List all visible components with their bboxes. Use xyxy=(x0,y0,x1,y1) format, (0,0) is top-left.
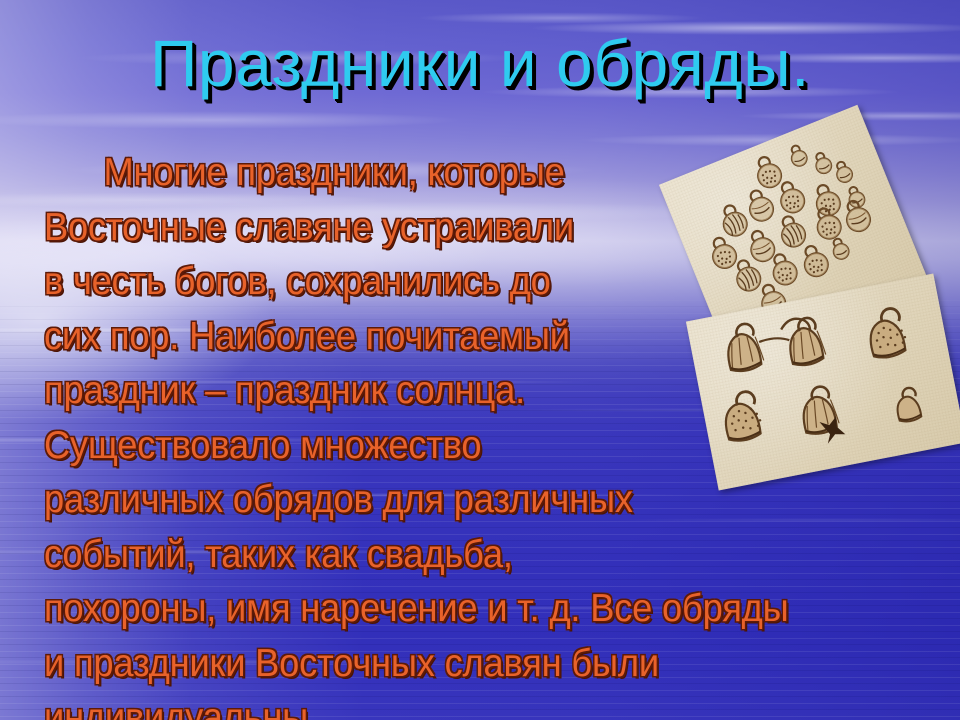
body-line: индивидуальны. xyxy=(44,691,760,720)
slide-title: Праздники и обряды. xyxy=(0,26,960,100)
body-line: сих пор. Наиболее почитаемый xyxy=(44,310,760,365)
body-line: праздник – праздник солнца. xyxy=(44,364,760,419)
presentation-slide: Праздники и обряды. Многие праздники, ко… xyxy=(0,0,960,720)
slide-body-text: Многие праздники, которые Восточные слав… xyxy=(44,146,760,720)
body-line: похороны, имя наречение и т. д. Все обря… xyxy=(44,582,760,637)
body-line: Многие праздники, которые xyxy=(44,146,760,201)
body-line: различных обрядов для различных xyxy=(44,473,760,528)
body-line: Существовало множество xyxy=(44,419,760,474)
body-line: в честь богов, сохранились до xyxy=(44,255,760,310)
body-line: событий, таких как свадьба, xyxy=(44,528,760,583)
body-line: Восточные славяне устраивали xyxy=(44,201,760,256)
body-line: и праздники Восточных славян были xyxy=(44,637,760,692)
